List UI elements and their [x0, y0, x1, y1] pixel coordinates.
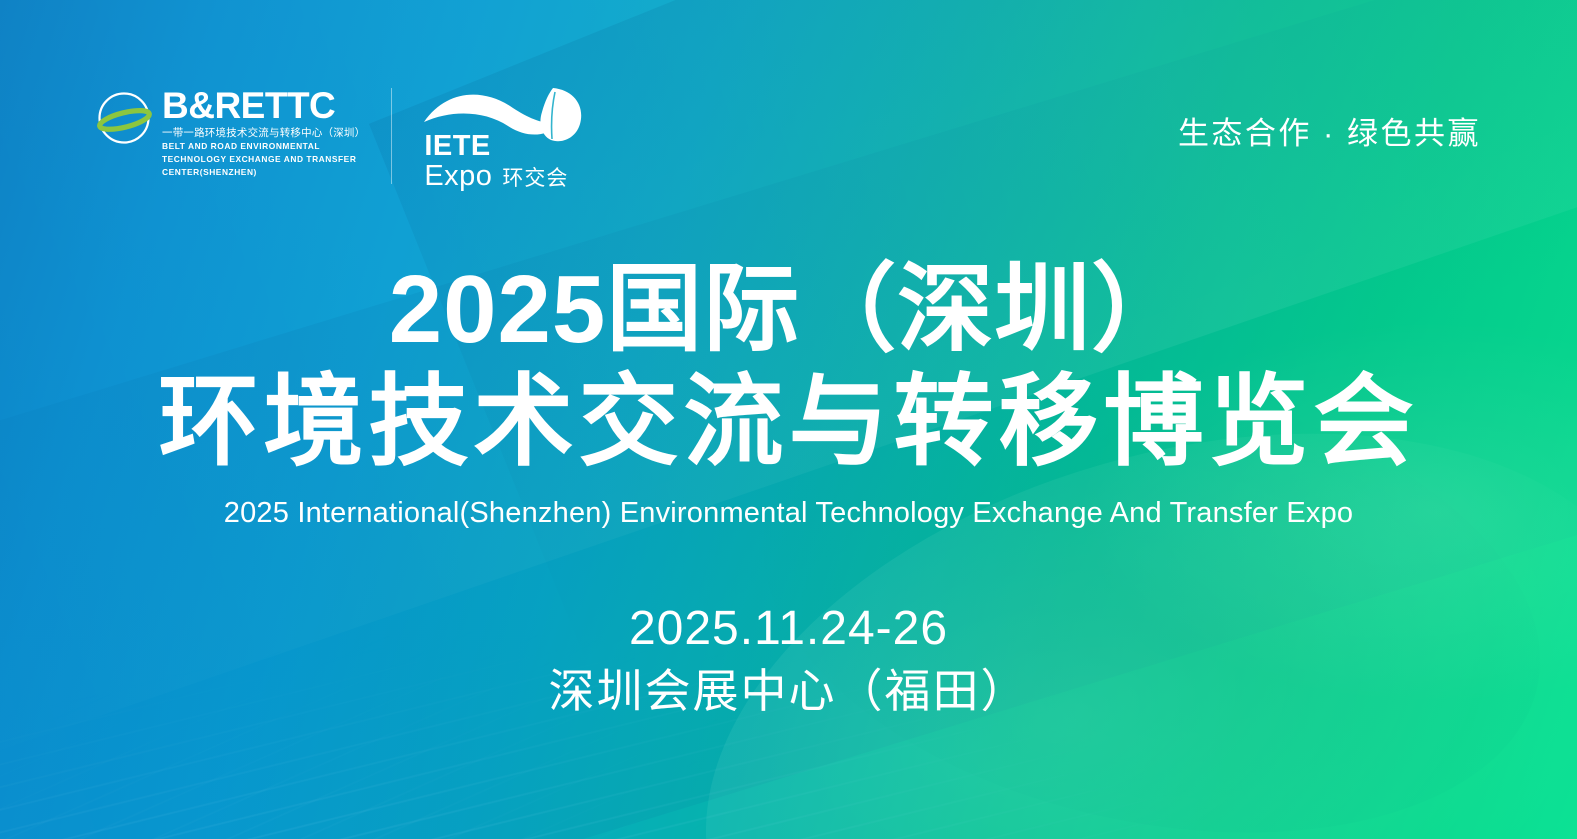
brettc-logo: B&RETTC 一带一路环境技术交流与转移中心（深圳） BELT AND ROA…: [96, 88, 392, 184]
brettc-english-line-1: BELT AND ROAD ENVIRONMENTAL: [162, 141, 365, 153]
event-venue: 深圳会展中心（福田）: [0, 663, 1577, 721]
iete-chinese-short: 环交会: [502, 168, 568, 191]
event-date: 2025.11.24-26: [0, 600, 1577, 659]
logo-group: B&RETTC 一带一路环境技术交流与转移中心（深圳） BELT AND ROA…: [96, 88, 590, 196]
brettc-wordmark: B&RETTC: [162, 88, 365, 124]
hero-title-block: 2025国际（深圳） 环境技术交流与转移博览会 2025 Internation…: [0, 258, 1577, 530]
iete-acronym: IETE: [424, 132, 568, 161]
brettc-english-line-3: CENTER(SHENZHEN): [162, 167, 365, 179]
event-banner: B&RETTC 一带一路环境技术交流与转移中心（深圳） BELT AND ROA…: [0, 0, 1577, 839]
iete-expo-logo: IETE Expo 环交会: [422, 88, 590, 196]
globe-circle-mark: [96, 90, 152, 146]
event-info-block: 2025.11.24-26 深圳会展中心（福田）: [0, 600, 1577, 720]
brettc-english-line-2: TECHNOLOGY EXCHANGE AND TRANSFER: [162, 154, 365, 166]
banner-header: B&RETTC 一带一路环境技术交流与转移中心（深圳） BELT AND ROA…: [0, 0, 1577, 210]
iete-expo-word: Expo: [424, 161, 492, 192]
title-line-2: 环境技术交流与转移博览会: [0, 366, 1577, 478]
iete-text-block: IETE Expo 环交会: [424, 132, 568, 192]
brettc-text-block: B&RETTC 一带一路环境技术交流与转移中心（深圳） BELT AND ROA…: [162, 88, 365, 179]
subtitle-english: 2025 International(Shenzhen) Environment…: [0, 496, 1577, 531]
iete-second-row: Expo 环交会: [424, 161, 568, 192]
banner-slogan: 生态合作 · 绿色共赢: [1178, 108, 1481, 153]
brettc-chinese-name: 一带一路环境技术交流与转移中心（深圳）: [162, 126, 365, 140]
title-line-1: 2025国际（深圳）: [0, 258, 1577, 362]
